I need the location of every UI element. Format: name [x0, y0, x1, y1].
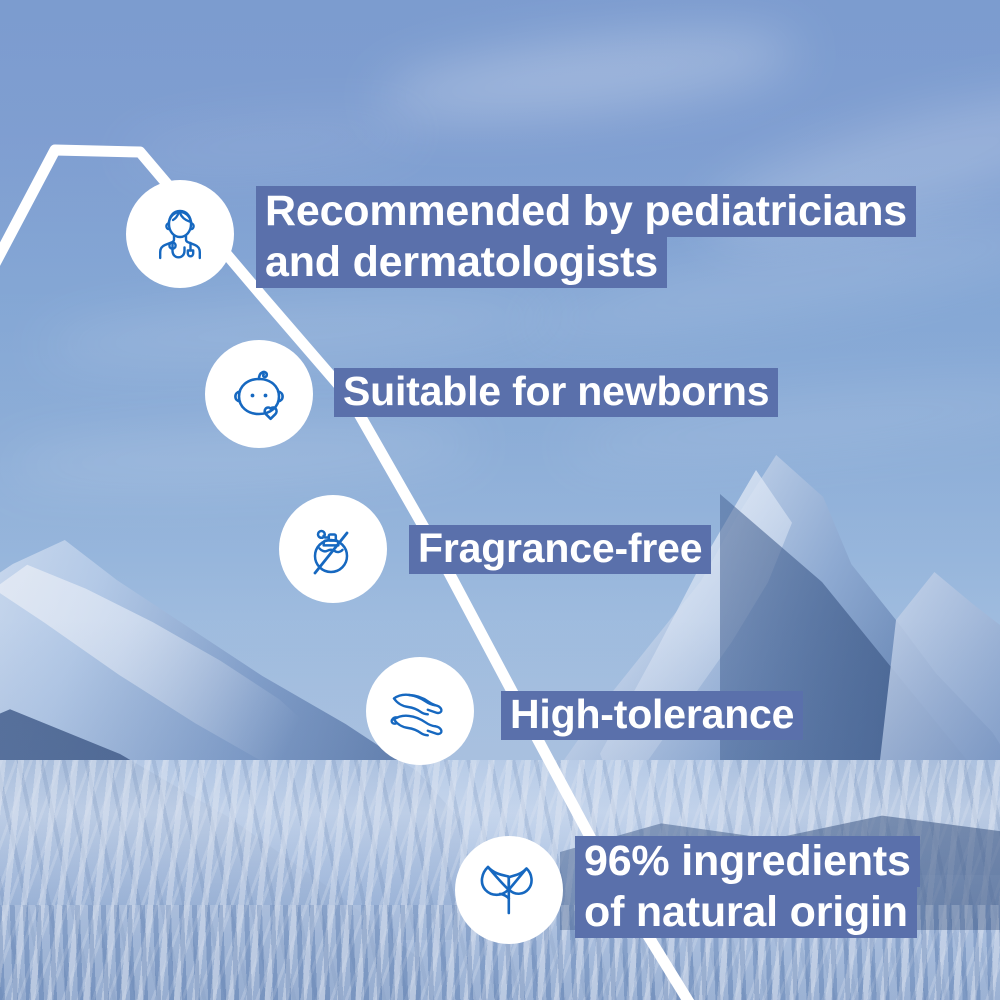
- claim-line: and dermatologists: [256, 237, 667, 288]
- doctor-icon: [144, 198, 216, 270]
- claim-icon-high-tolerance: [366, 657, 474, 765]
- claim-line: Fragrance-free: [409, 525, 711, 574]
- claim-icon-pediatricians: [126, 180, 234, 288]
- claim-icon-natural-origin: [455, 836, 563, 944]
- leaf-sprout-icon: [472, 853, 546, 927]
- claim-text-fragrance-free: Fragrance-free: [409, 525, 711, 579]
- claim-line: of natural origin: [575, 887, 917, 938]
- claim-line: Suitable for newborns: [334, 368, 778, 417]
- claim-line: High-tolerance: [501, 691, 803, 740]
- claim-text-high-tolerance: High-tolerance: [501, 691, 803, 745]
- claim-icon-fragrance-free: [279, 495, 387, 603]
- product-claims-infographic: Recommended by pediatricians and dermato…: [0, 0, 1000, 1000]
- claim-icon-newborns: [205, 340, 313, 448]
- claim-text-natural-origin: 96% ingredients of natural origin: [575, 836, 920, 943]
- claim-text-newborns: Suitable for newborns: [334, 368, 778, 422]
- caring-hands-icon: [383, 674, 457, 748]
- claim-line: 96% ingredients: [575, 836, 920, 887]
- claim-line: Recommended by pediatricians: [256, 186, 916, 237]
- claim-text-pediatricians: Recommended by pediatricians and dermato…: [256, 186, 916, 293]
- no-perfume-icon: [297, 513, 369, 585]
- baby-face-icon: [223, 358, 295, 430]
